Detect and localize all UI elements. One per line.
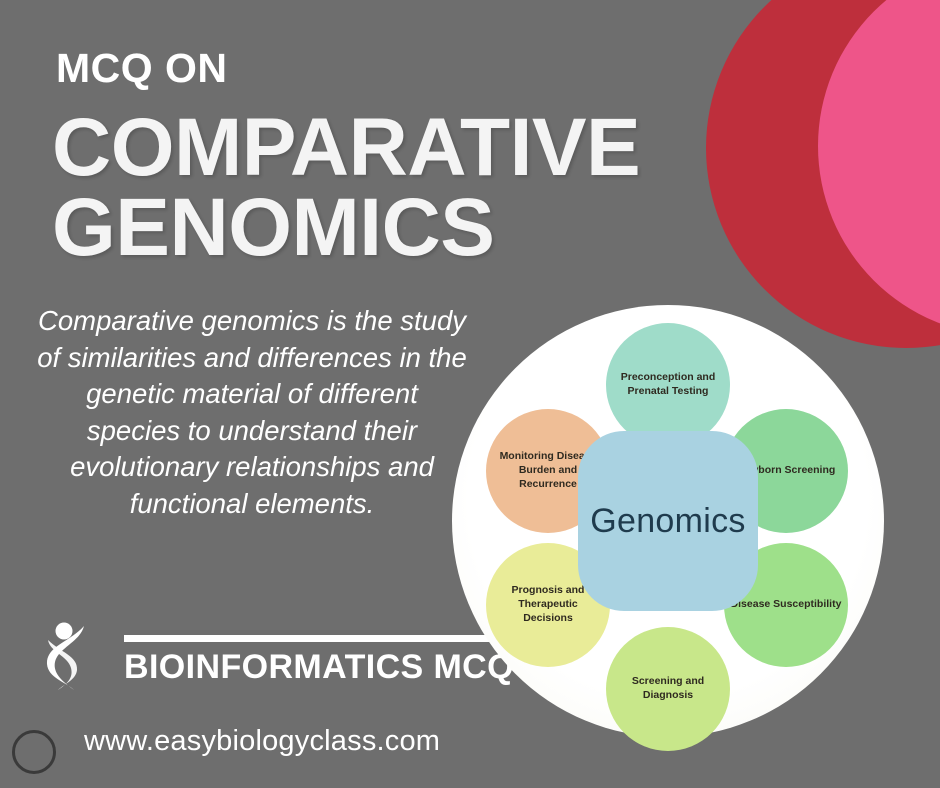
diagram-center-hub: Genomics xyxy=(578,431,758,611)
diagram-petal-screening-diagnosis: Screening and Diagnosis xyxy=(606,627,730,751)
website-url[interactable]: www.easybiologyclass.com xyxy=(84,725,440,758)
page-title: COMPARATIVE GENOMICS xyxy=(52,108,712,269)
petal-label: Disease Susceptibility xyxy=(731,598,842,612)
poster-canvas: MCQ ON COMPARATIVE GENOMICS Comparative … xyxy=(0,0,940,788)
dna-person-icon xyxy=(40,620,102,690)
brand-name: BIOINFORMATICS MCQ xyxy=(124,648,514,687)
genomics-wheel-diagram: Preconception and Prenatal Testing Newbo… xyxy=(452,305,884,737)
corner-ring-decoration xyxy=(12,730,56,774)
description-text: Comparative genomics is the study of sim… xyxy=(36,303,468,522)
petal-label: Screening and Diagnosis xyxy=(612,675,724,703)
brand-lockup: BIOINFORMATICS MCQ xyxy=(40,618,480,690)
diagram-petal-preconception: Preconception and Prenatal Testing xyxy=(606,323,730,447)
petal-label: Preconception and Prenatal Testing xyxy=(612,371,724,399)
headline-line-1: COMPARATIVE xyxy=(52,102,640,193)
headline-line-2: GENOMICS xyxy=(52,188,712,268)
diagram-center-label: Genomics xyxy=(590,502,745,541)
brand-divider-rule xyxy=(124,635,510,642)
kicker-text: MCQ ON xyxy=(56,48,228,89)
